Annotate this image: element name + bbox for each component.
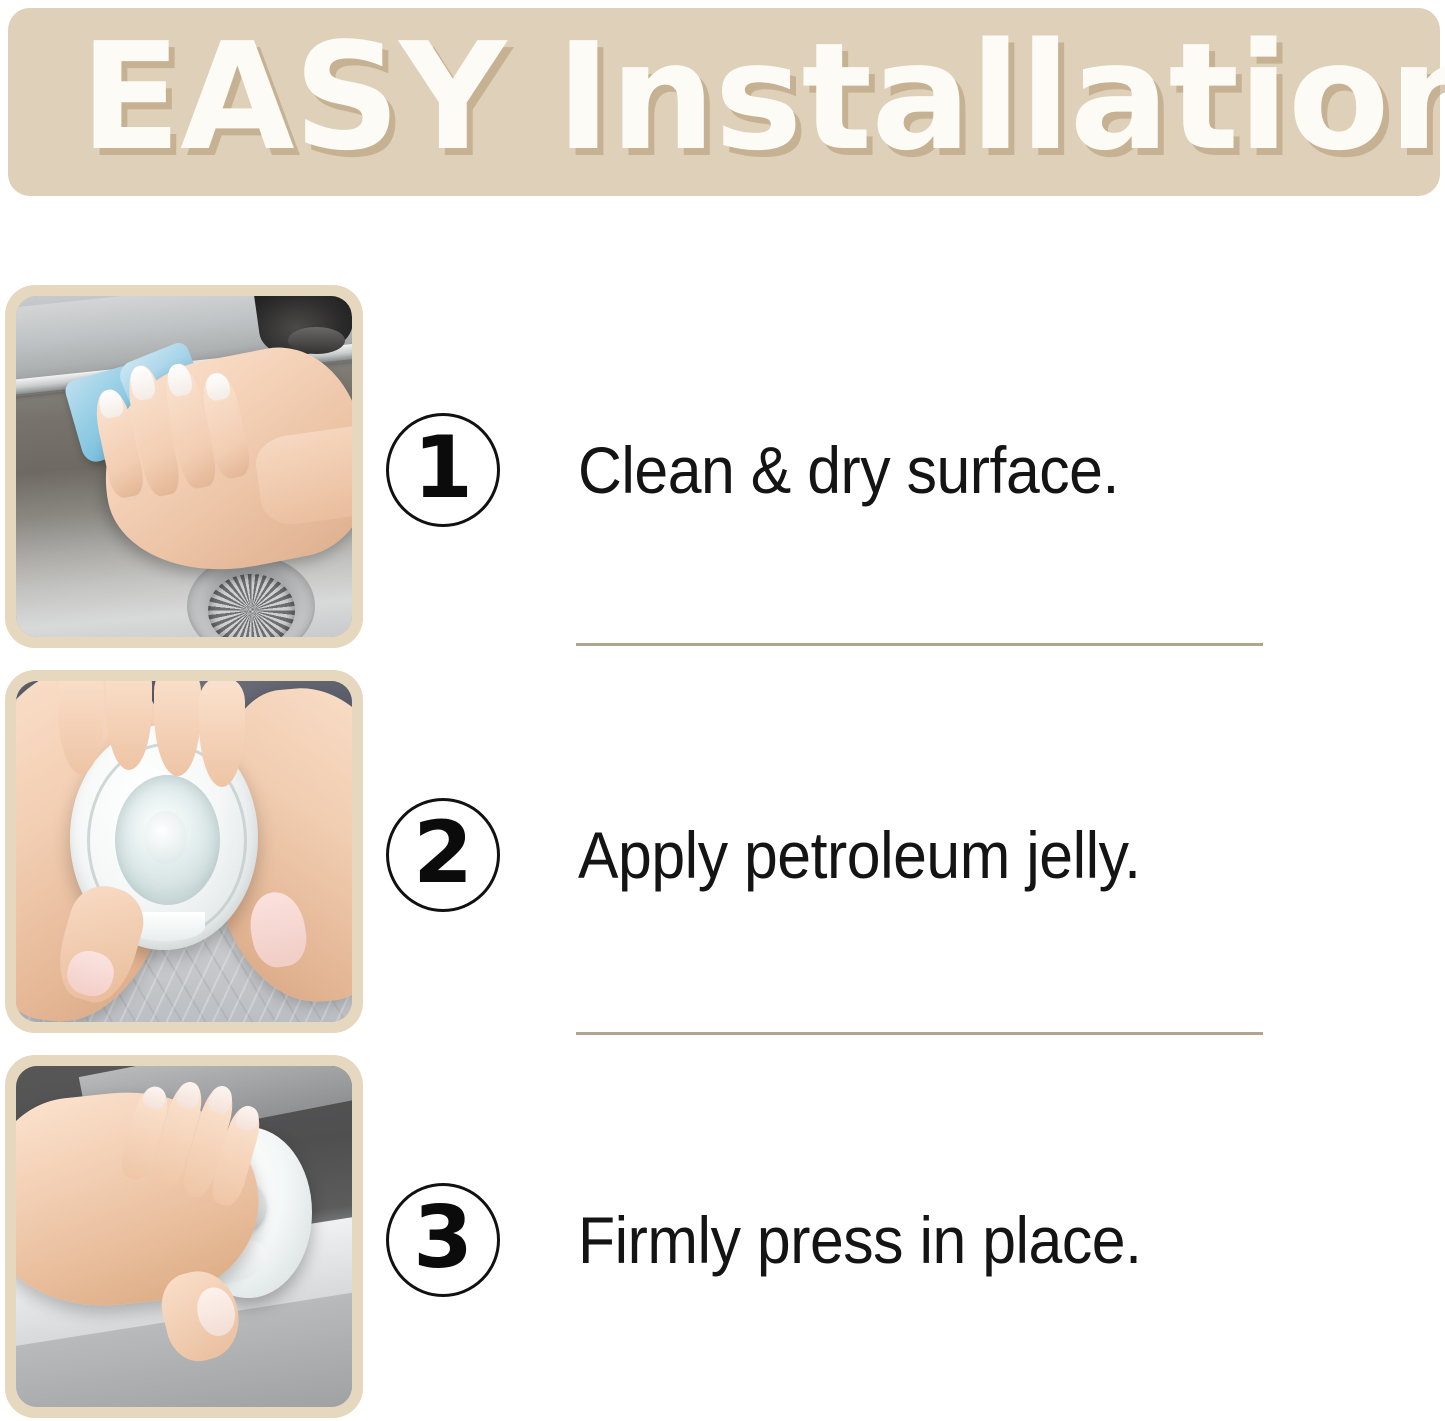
step-number-badge-3: 3 xyxy=(386,1183,500,1297)
step-photo-apply-jelly xyxy=(16,681,352,1022)
step-divider xyxy=(576,643,1263,646)
step-divider xyxy=(576,1032,1263,1035)
step-photo-frame xyxy=(5,1055,363,1418)
step-item: 1 Clean & dry surface. xyxy=(0,285,1445,648)
step-caption-3: Firmly press in place. xyxy=(578,1183,1332,1297)
step-caption-1: Clean & dry surface. xyxy=(578,413,1332,527)
step-item: 2 Apply petroleum jelly. xyxy=(0,670,1445,1033)
step-caption-2: Apply petroleum jelly. xyxy=(578,798,1332,912)
step-photo-clean-surface xyxy=(16,296,352,637)
installation-steps: 1 Clean & dry surface. 2 xyxy=(0,0,1445,1421)
step-number-badge-2: 2 xyxy=(386,798,500,912)
suction-cup-shape xyxy=(115,775,220,906)
fingers-shape xyxy=(50,681,252,770)
step-item: 3 Firmly press in place. xyxy=(0,1055,1445,1418)
step-photo-frame xyxy=(5,670,363,1033)
step-photo-frame xyxy=(5,285,363,648)
step-photo-press-in-place xyxy=(16,1066,352,1407)
step-number-label: 2 xyxy=(413,810,473,896)
step-number-label: 3 xyxy=(413,1195,473,1281)
step-number-label: 1 xyxy=(413,425,473,511)
step-number-badge-1: 1 xyxy=(386,413,500,527)
